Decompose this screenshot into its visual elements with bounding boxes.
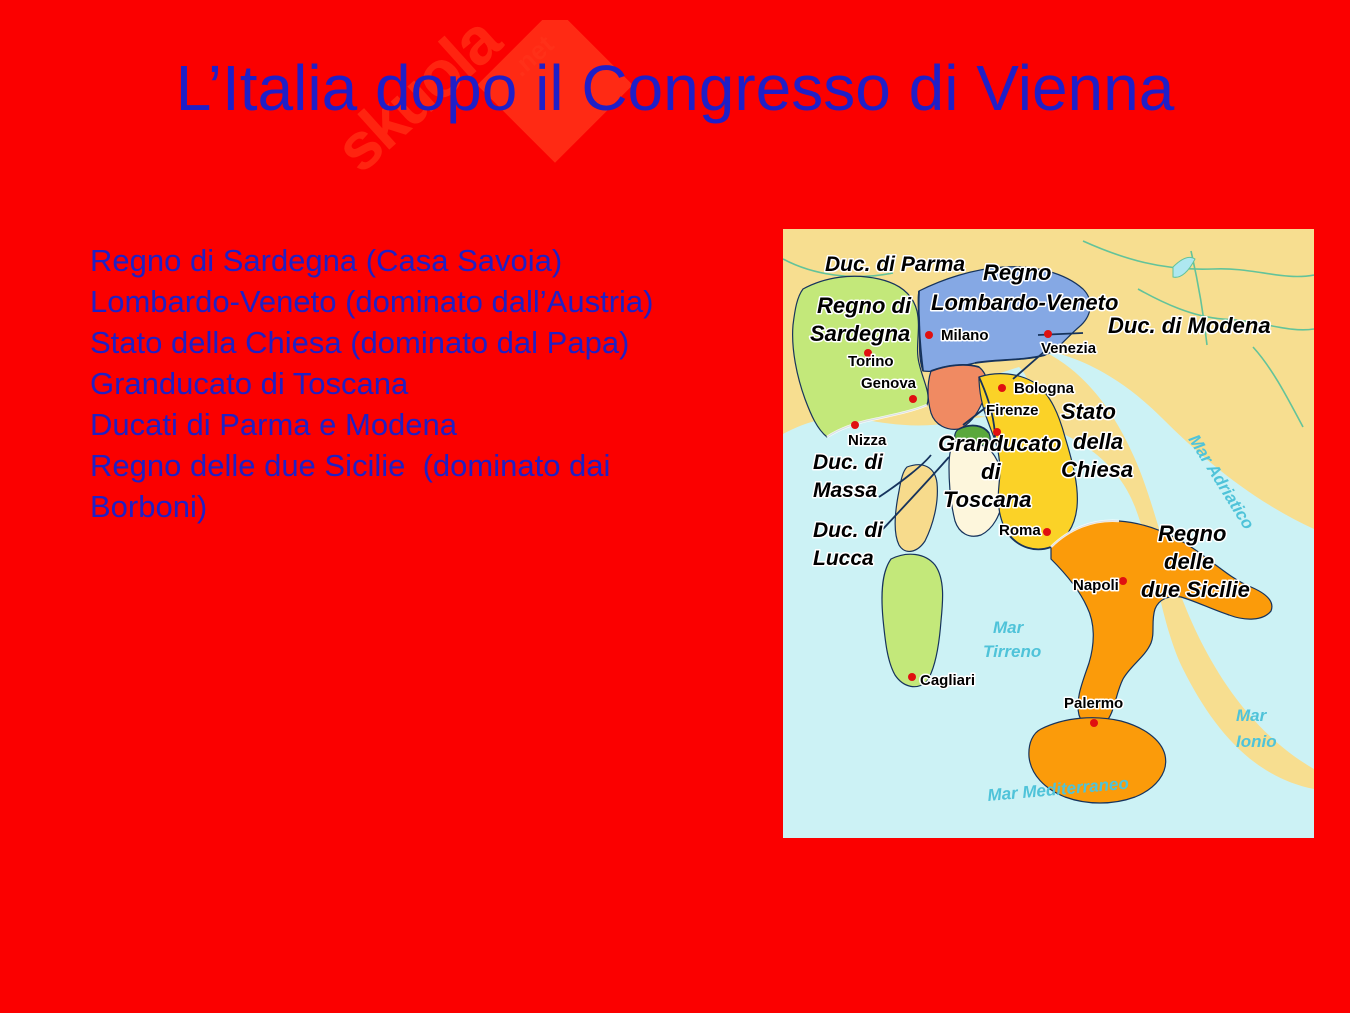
map-city-dot-milano (925, 331, 933, 339)
map-label-duc-di-lucca-line1: Duc. di (813, 519, 884, 542)
list-item: Regno delle due Sicilie (dominato dai Bo… (90, 445, 730, 527)
map-city-dot-roma (1043, 528, 1051, 536)
map-city-label-napoli: Napoli (1073, 577, 1119, 594)
map-sea-label-mar-ionio-l1: Mar (1236, 706, 1268, 725)
map-city-dot-venezia (1044, 330, 1052, 338)
slide-title: L’Italia dopo il Congresso di Vienna (0, 52, 1350, 124)
map-label-duc-di-lucca-line2: Lucca (813, 547, 874, 570)
list-item: Lombardo-Veneto (dominato dall’Austria) (90, 281, 730, 322)
map-label-regno-di-sardegna-line2: Sardegna (810, 321, 910, 346)
map-label-regno-lombardo-veneto-line1: Regno (983, 260, 1051, 285)
list-item: Granducato di Toscana (90, 363, 730, 404)
map-label-duc-di-modena: Duc. di Modena (1108, 313, 1271, 338)
map-city-label-genova: Genova (861, 375, 917, 392)
list-item: Regno di Sardegna (Casa Savoia) (90, 240, 730, 281)
map-label-duc-di-parma: Duc. di Parma (825, 253, 965, 276)
map-label-granducato-di-toscana-line2: di (981, 459, 1001, 484)
map-city-dot-firenze (993, 428, 1001, 436)
map-city-label-bologna: Bologna (1014, 380, 1075, 397)
list-item: Ducati di Parma e Modena (90, 404, 730, 445)
map-city-label-palermo: Palermo (1064, 695, 1123, 712)
map-city-dot-genova (909, 395, 917, 403)
map-city-label-cagliari: Cagliari (920, 672, 975, 689)
map-label-duc-di-massa-line2: Massa (813, 479, 878, 502)
map-city-label-nizza: Nizza (848, 432, 887, 449)
island-sardegna (882, 554, 943, 686)
map-city-dot-nizza (851, 421, 859, 429)
map-label-stato-della-chiesa-line3: Chiesa (1061, 457, 1133, 482)
map-sea-label-mar-tirreno-l2: Tirreno (983, 642, 1041, 661)
map-label-stato-della-chiesa-line1: Stato (1061, 399, 1116, 424)
list-item: Stato della Chiesa (dominato dal Papa) (90, 322, 730, 363)
map-city-label-firenze: Firenze (986, 402, 1039, 419)
map-label-duc-di-massa-line1: Duc. di (813, 451, 884, 474)
map-city-label-roma: Roma (999, 522, 1041, 539)
map-sea-label-mar-tirreno-l1: Mar (993, 618, 1025, 637)
states-list: Regno di Sardegna (Casa Savoia) Lombardo… (90, 240, 730, 527)
map-label-granducato-di-toscana-line3: Toscana (943, 487, 1031, 512)
map-city-dot-napoli (1119, 577, 1127, 585)
map-label-regno-delle-due-sicilie-line1: Regno (1158, 521, 1226, 546)
italy-political-map: Duc. di ParmaRegnoLombardo-VenetoRegno d… (783, 229, 1314, 838)
map-label-regno-di-sardegna-line1: Regno di (817, 293, 912, 318)
map-city-label-venezia: Venezia (1041, 340, 1097, 357)
map-label-regno-delle-due-sicilie-line2: delle (1164, 549, 1214, 574)
map-sea-label-mar-ionio-l2: Ionio (1236, 732, 1277, 751)
map-city-dot-cagliari (908, 673, 916, 681)
map-city-label-torino: Torino (848, 353, 894, 370)
map-label-regno-delle-due-sicilie-line3: due Sicilie (1141, 577, 1250, 602)
map-city-dot-bologna (998, 384, 1006, 392)
map-city-dot-palermo (1090, 719, 1098, 727)
map-label-stato-della-chiesa-line2: della (1073, 429, 1123, 454)
map-label-regno-lombardo-veneto-line2: Lombardo-Veneto (931, 290, 1118, 315)
map-city-label-milano: Milano (941, 327, 989, 344)
